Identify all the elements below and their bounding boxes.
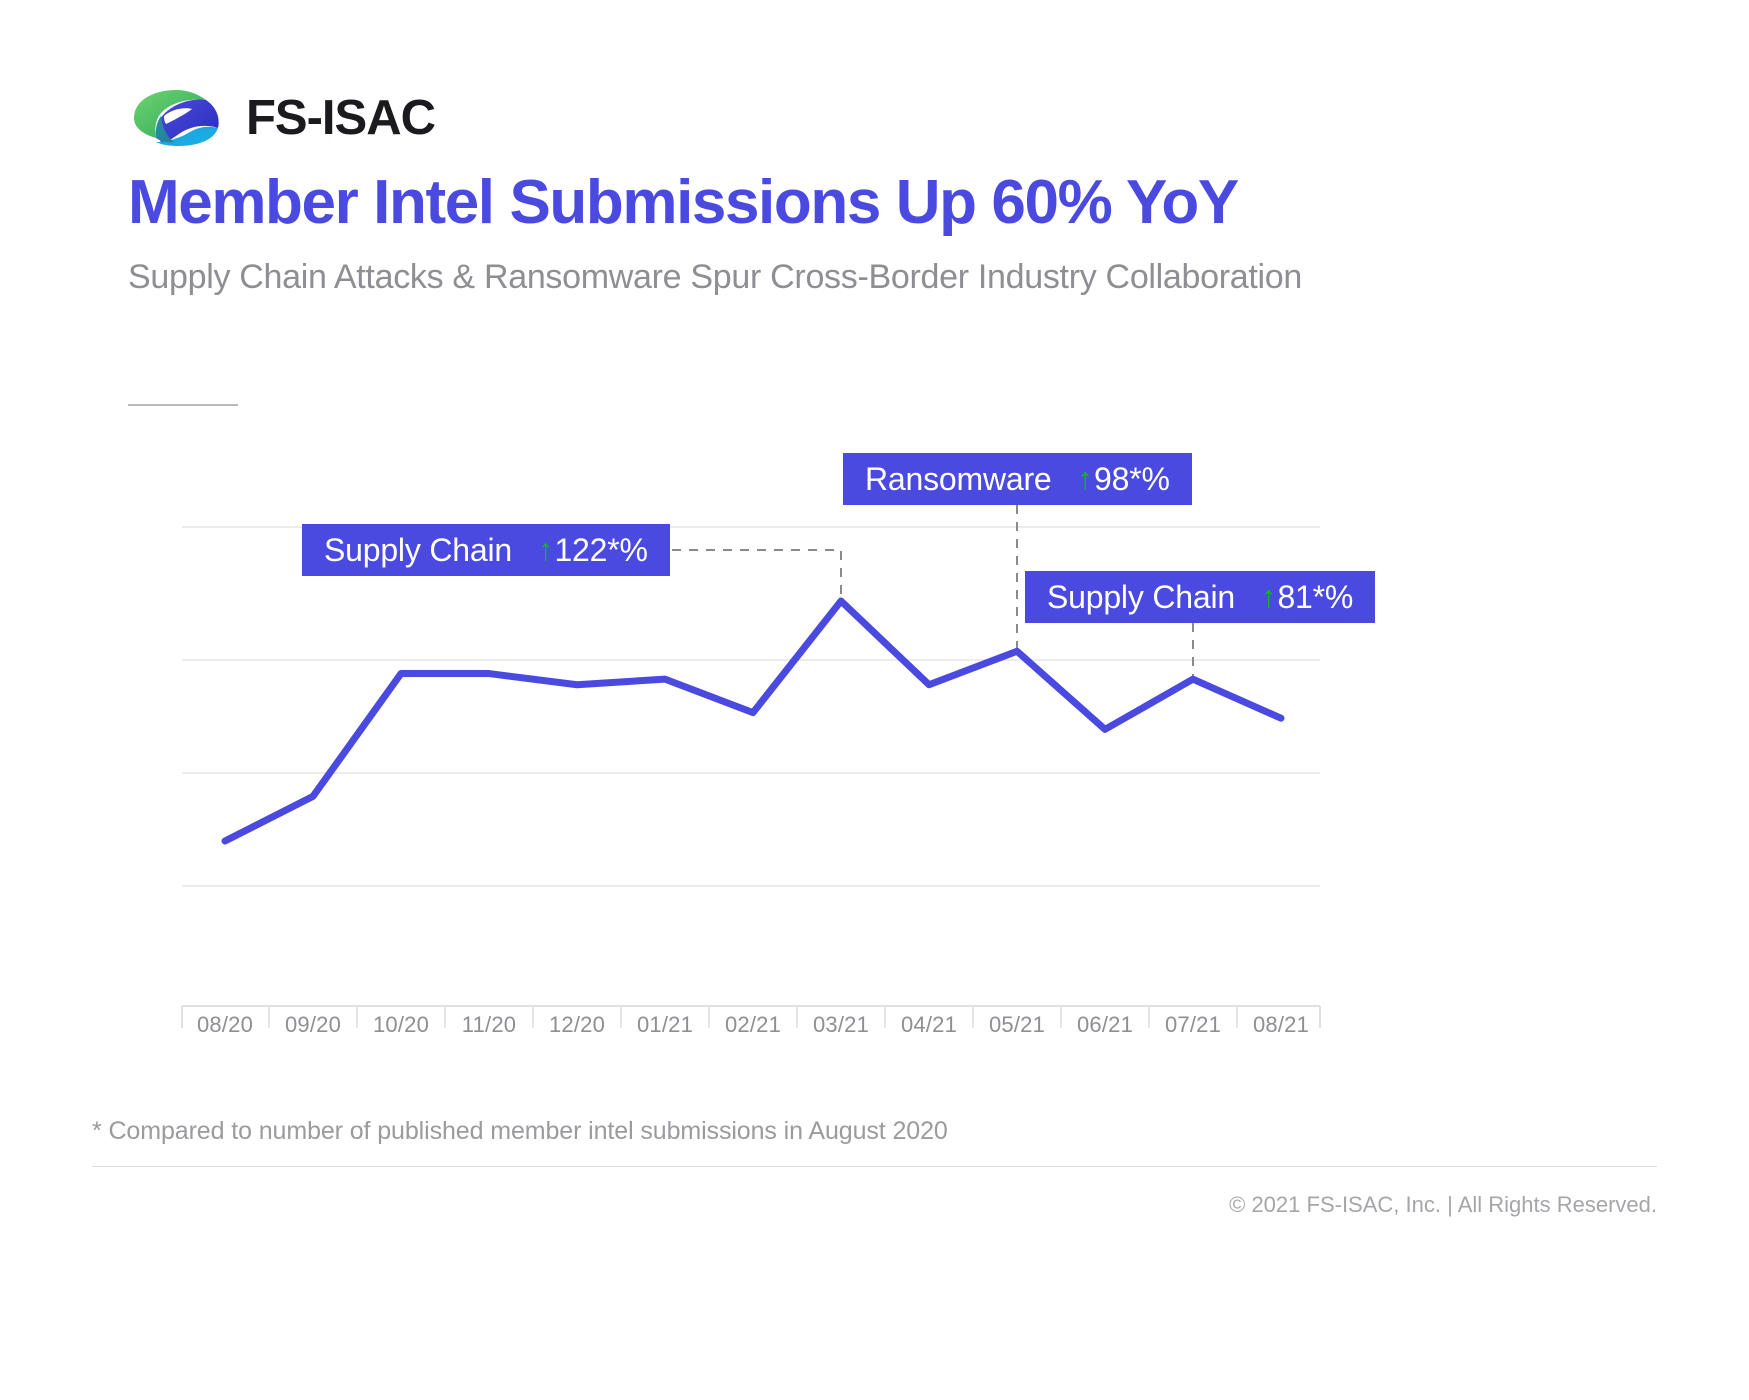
footer-divider: [92, 1166, 1657, 1167]
x-axis-label-04-21: 04/21: [901, 1012, 957, 1038]
fs-isac-eye-logo-icon: [128, 88, 224, 148]
callout-value: 98*%: [1094, 461, 1170, 498]
callout-label: Supply Chain: [1047, 579, 1235, 616]
x-axis-label-05-21: 05/21: [989, 1012, 1045, 1038]
x-axis-label-10-20: 10/20: [373, 1012, 429, 1038]
copyright-text: © 2021 FS-ISAC, Inc. | All Rights Reserv…: [1229, 1192, 1657, 1218]
x-axis-label-06-21: 06/21: [1077, 1012, 1133, 1038]
callout-supply-chain-81[interactable]: Supply Chain ↑ 81*%: [1025, 571, 1375, 623]
x-axis-label-08-21: 08/21: [1253, 1012, 1309, 1038]
callout-supply-chain-122[interactable]: Supply Chain ↑ 122*%: [302, 524, 670, 576]
callout-value: 81*%: [1277, 579, 1353, 616]
series-line-submissions: [225, 601, 1281, 841]
callout-ransomware-98[interactable]: Ransomware ↑ 98*%: [843, 453, 1192, 505]
x-axis-label-03-21: 03/21: [813, 1012, 869, 1038]
leader-supply-chain-122: [655, 550, 841, 601]
arrow-up-icon: ↑: [1261, 581, 1277, 612]
x-axis-label-02-21: 02/21: [725, 1012, 781, 1038]
brand-logo: FS-ISAC: [128, 88, 435, 148]
x-axis-labels: 08/2009/2010/2011/2012/2001/2102/2103/21…: [0, 1012, 1749, 1042]
title-divider: [128, 404, 238, 406]
arrow-up-icon: ↑: [538, 534, 554, 565]
arrow-up-icon: ↑: [1078, 463, 1094, 494]
callout-label: Supply Chain: [324, 532, 512, 569]
callout-value: 122*%: [554, 532, 647, 569]
chart-footnote: * Compared to number of published member…: [92, 1117, 948, 1146]
x-axis-label-07-21: 07/21: [1165, 1012, 1221, 1038]
callout-label: Ransomware: [865, 461, 1052, 498]
x-axis-label-09-20: 09/20: [285, 1012, 341, 1038]
page-subtitle: Supply Chain Attacks & Ransomware Spur C…: [128, 258, 1648, 297]
x-axis-label-01-21: 01/21: [637, 1012, 693, 1038]
x-axis-label-08-20: 08/20: [197, 1012, 253, 1038]
page-title: Member Intel Submissions Up 60% YoY: [128, 170, 1628, 235]
infographic-page: FS-ISAC Member Intel Submissions Up 60% …: [0, 0, 1749, 1400]
brand-wordmark: FS-ISAC: [246, 90, 435, 146]
x-axis-label-11-20: 11/20: [462, 1012, 516, 1038]
x-axis-label-12-20: 12/20: [549, 1012, 605, 1038]
